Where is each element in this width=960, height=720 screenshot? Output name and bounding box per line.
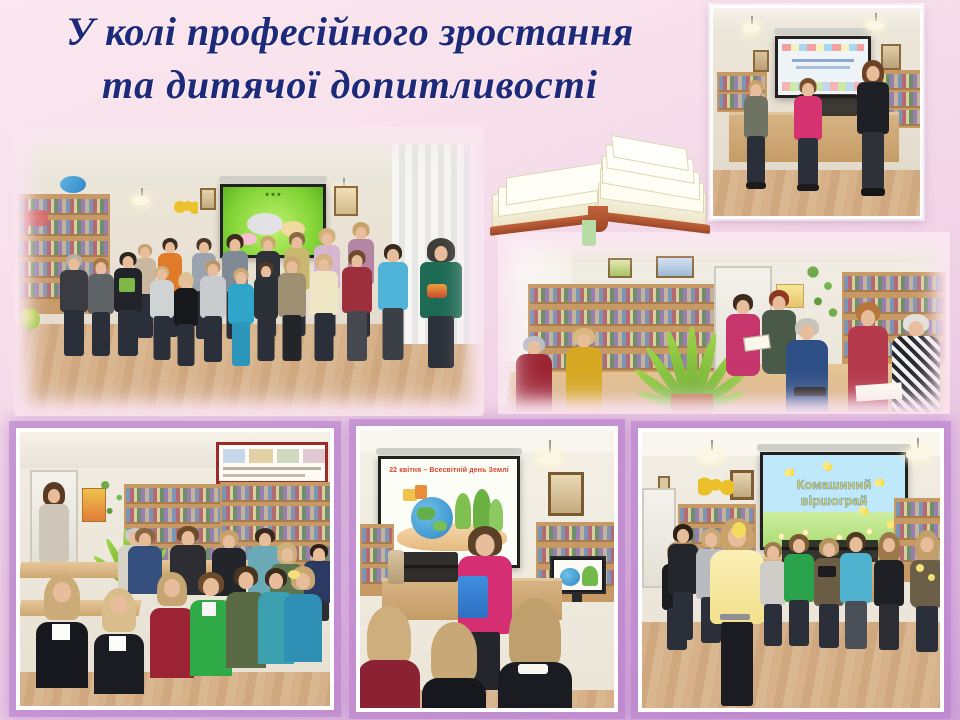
library-counter-scene	[713, 8, 920, 216]
photo-bottom-center[interactable]: 22 квітня – Всесвітній день Землі	[356, 426, 618, 712]
title-line-1: У колі професійного зростання	[0, 6, 700, 59]
person	[514, 336, 554, 414]
person	[853, 60, 893, 200]
person	[890, 314, 942, 414]
photo-middle-right[interactable]	[498, 232, 950, 414]
info-board	[216, 442, 328, 484]
open-book-icon	[488, 136, 714, 252]
person	[791, 78, 825, 192]
audience-scene	[20, 432, 330, 706]
photo-bottom-right[interactable]: Комашиний віршограй	[638, 428, 944, 712]
person	[36, 482, 72, 574]
person	[784, 318, 830, 414]
group-photo-scene: ★ ★ ★	[14, 126, 484, 416]
photo-bottom-left[interactable]	[16, 428, 334, 710]
person	[564, 328, 604, 414]
person	[741, 80, 771, 190]
slide-heading: ★ ★ ★	[223, 192, 323, 198]
title-line-2: та дитячої допитливості	[0, 59, 700, 112]
librarians-meeting-scene	[498, 232, 950, 414]
wall-portrait	[548, 472, 584, 516]
photo-group-left[interactable]: ★ ★ ★	[14, 126, 484, 416]
earth-day-presentation-scene: 22 квітня – Всесвітній день Землі	[360, 430, 614, 708]
blue-folder	[458, 576, 488, 618]
slide-heading: 22 квітня – Всесвітній день Землі	[381, 467, 517, 474]
wall-portrait	[753, 50, 769, 72]
photo-top-right[interactable]	[710, 5, 923, 219]
page-title: У колі професійного зростання та дитячої…	[0, 6, 700, 112]
poetry-performance-scene: Комашиний віршограй	[642, 432, 940, 708]
